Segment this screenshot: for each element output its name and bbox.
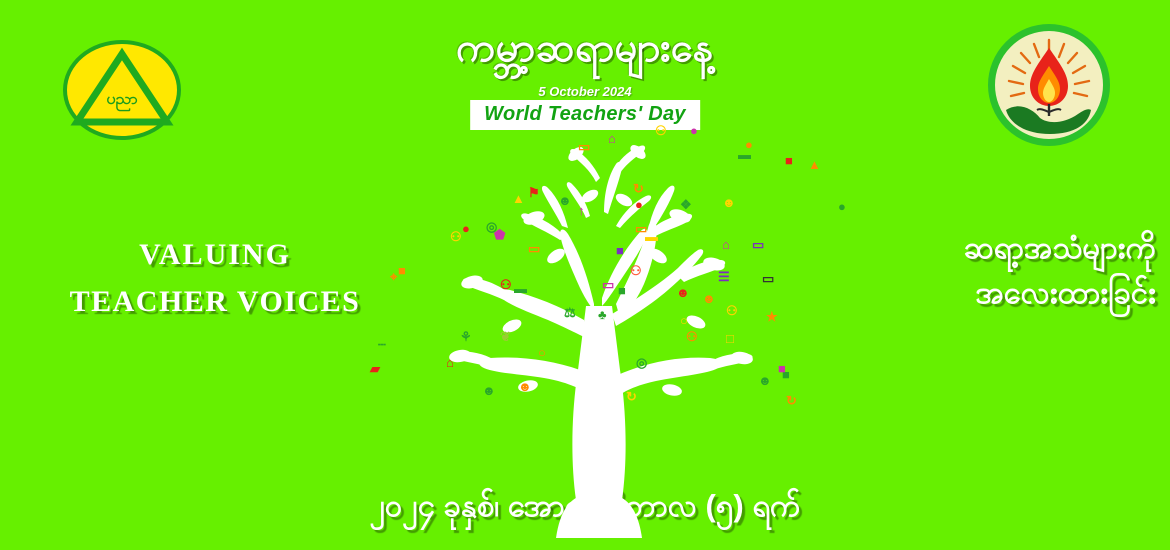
slogan-myanmar-line1: ဆရာ့အသံများကို [816,226,1156,271]
cycle-arrows-icon: ↻ [633,182,644,195]
network-people-icon: ⚇ [500,278,512,291]
bar-growth-icon: ↑ [578,204,585,217]
roundtable-icon: ○ [538,346,546,359]
group-table-icon: ▬ [514,282,527,295]
award-icon: ★ [766,310,778,323]
pink-tag-icon: ■ [778,362,786,375]
notebook-icon: ■ [398,264,406,277]
teacher-presenting-icon: ■ [616,244,624,257]
open-book-icon: ▭ [578,140,590,153]
flag-growth-icon: ▲ [512,192,525,205]
walker-icon: ☻ [518,380,532,393]
chat-window-icon: ▭ [602,278,614,291]
slogan-english-line2: TEACHER VOICES [20,279,410,326]
speech-small-icon: ● [462,222,470,235]
balance-scale-icon: ⚖ [564,306,576,319]
worker-icon: ☻ [676,286,690,299]
speech-bubble-icon: ● [690,124,698,137]
puzzle-icon: ❖ [680,198,692,211]
student-icon: ☻ [702,292,716,305]
red-flag-icon: ⚑ [528,186,540,199]
graduation-cap-icon: ⌂ [608,132,616,145]
book-spread-icon: ▭ [528,242,540,255]
audience-icon: ⚇ [686,330,698,343]
dashed-line-icon: ┄ [378,338,386,351]
people-path-icon: ☻ [482,384,496,397]
lightbulb-cycle-icon: ↻ [626,390,637,403]
institution-icon: ☰ [718,270,730,283]
apple-icon: ● [838,200,846,213]
presenter-icon: ▲ [808,158,821,171]
green-screen-icon: ■ [618,284,626,297]
classroom-icon: ⚇ [630,264,642,277]
presentation-icon: ▭ [752,238,764,251]
page-title-mm: ကမ္ဘာ့ဆရာများနေ့ [0,26,1170,70]
chat-screen-icon: ▬ [738,148,751,161]
slogan-myanmar: ဆရာ့အသံများကို အလေးထားခြင်း [816,226,1156,316]
monitor-icon: ▭ [762,272,774,285]
desk-icon: ▬ [645,230,658,243]
world-teachers-day-poster: ပညာ [0,0,1170,550]
bank-building-icon: ⌂ [722,238,730,251]
person-tie-icon: ● [635,198,643,211]
people-pair-icon: ⚇ [655,124,667,137]
slogan-myanmar-line2: အလေးထားခြင်း [816,271,1156,316]
red-roof-school-icon: ▰ [370,362,380,375]
running-person-icon: ☻ [558,194,572,207]
tree-small-icon: ♣ [598,308,607,321]
school-building-icon: ⌂ [446,356,454,369]
person-plant-icon: ⚘ [460,330,472,343]
speech-square-icon: □ [726,332,734,345]
target-arrow-icon: ◎ [636,356,647,369]
cycle-right-icon: ↻ [786,394,797,407]
leaf-icon: ❦ [500,330,511,343]
person-single-icon: ☻ [722,196,736,209]
group-person-icon: ⚇ [726,304,738,317]
slogan-english-line1: VALUING [20,232,410,279]
globe-icon: ⌖ [390,270,397,283]
date-english: 5 October 2024 [0,84,1170,99]
education-icon-cluster: ⌂▭⚇●●▬■▲↻●❖▲⚑☻↑☻●●⚇◎⬟▭▬■▭■⚇⌖⌂▭▭☰⚇▬▭■☻☻⚖♣… [380,108,810,538]
pink-shape-icon: ⬟ [494,228,505,241]
people-circle-icon: ○ [680,314,688,327]
teacher-board-right-icon: ☻ [758,374,772,387]
family-group-icon: ⚇ [450,230,462,243]
slogan-english: VALUING TEACHER VOICES [20,232,410,325]
teacher-board-icon: ■ [785,154,793,167]
